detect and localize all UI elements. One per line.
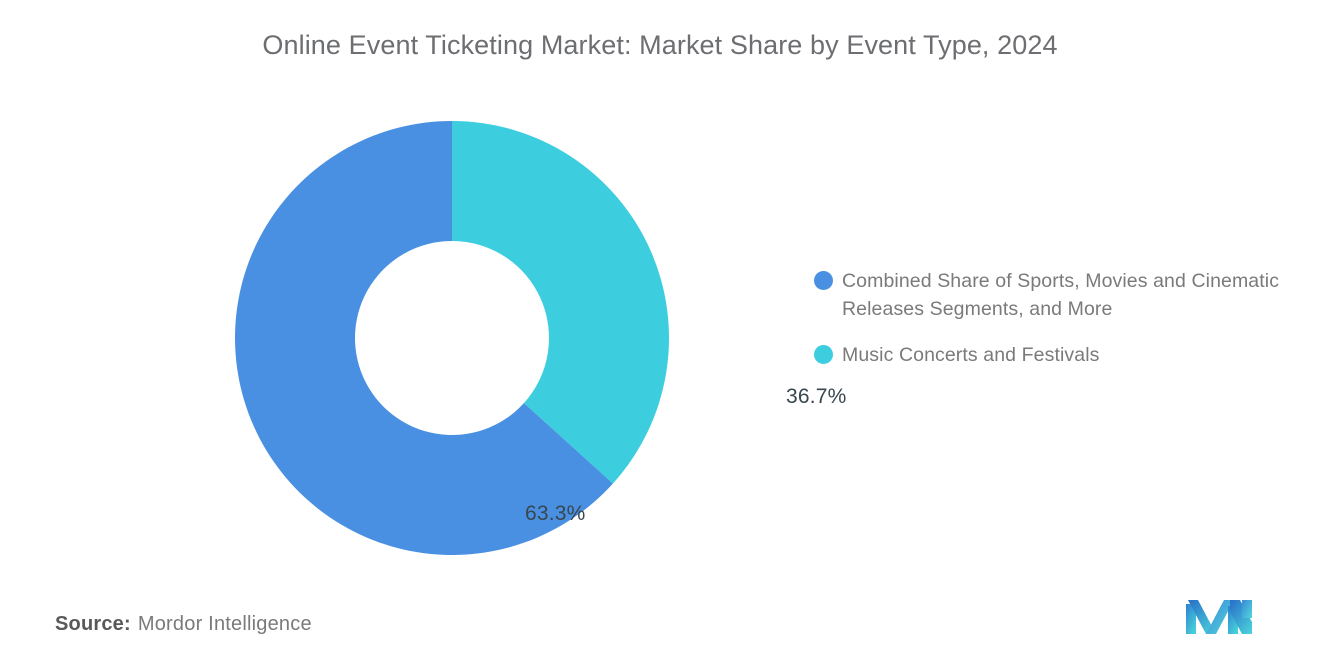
legend-swatch-circle-icon: [814, 271, 833, 290]
donut-chart: 63.3% 36.7%: [235, 121, 669, 555]
legend-item-label: Music Concerts and Festivals: [842, 341, 1099, 369]
source-attribution: Source:Mordor Intelligence: [55, 613, 312, 636]
donut-data-label-combined-share: 63.3%: [525, 502, 586, 526]
logo-svg: [1184, 594, 1254, 636]
page-title: Online Event Ticketing Market: Market Sh…: [0, 30, 1320, 61]
source-value: Mordor Intelligence: [138, 613, 312, 635]
legend-item-label: Combined Share of Sports, Movies and Cin…: [842, 267, 1284, 323]
legend-item-music-concerts[interactable]: Music Concerts and Festivals: [814, 341, 1284, 369]
donut-data-label-music-concerts: 36.7%: [786, 385, 847, 409]
chart-legend: Combined Share of Sports, Movies and Cin…: [814, 267, 1284, 387]
legend-swatch-circle-icon: [814, 345, 833, 364]
mordor-intelligence-logo-icon: [1184, 594, 1254, 636]
donut-chart-svg: [235, 121, 669, 555]
legend-item-combined-share[interactable]: Combined Share of Sports, Movies and Cin…: [814, 267, 1284, 323]
donut-slice-music-concerts[interactable]: [452, 121, 669, 484]
source-label: Source:: [55, 613, 131, 635]
